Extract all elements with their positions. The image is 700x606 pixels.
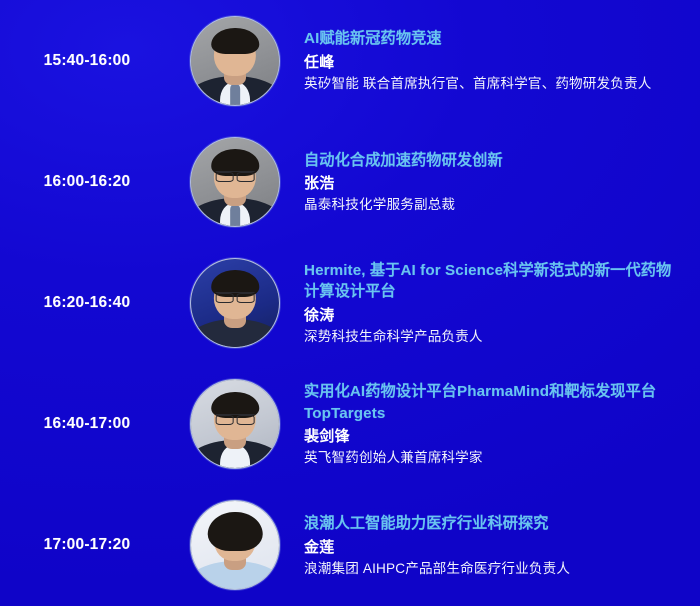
speaker-photo-xu-tao — [191, 259, 279, 347]
portrait-glasses — [216, 171, 255, 180]
talk-title: 自动化合成加速药物研发创新 — [304, 150, 684, 172]
talk-title: 实用化AI药物设计平台PharmaMind和靶标发现平台TopTargets — [304, 381, 684, 424]
speaker-affiliation: 英矽智能 联合首席执行官、首席科学官、药物研发负责人 — [304, 74, 684, 93]
speaker-photo-jin-lian — [191, 501, 279, 589]
time-slot: 15:40-16:00 — [0, 52, 182, 70]
speaker-name: 张浩 — [304, 173, 684, 194]
session-info: AI赋能新冠药物竞速 任峰 英矽智能 联合首席执行官、首席科学官、药物研发负责人 — [288, 28, 690, 93]
session-info: 自动化合成加速药物研发创新 张浩 晶泰科技化学服务副总裁 — [288, 150, 690, 215]
avatar-container — [182, 16, 288, 106]
portrait-tie — [230, 206, 240, 225]
session-info: Hermite, 基于AI for Science科学新范式的新一代药物计算设计… — [288, 260, 690, 346]
talk-title: Hermite, 基于AI for Science科学新范式的新一代药物计算设计… — [304, 260, 684, 303]
speaker-photo-pei-jianfeng — [191, 380, 279, 468]
speaker-name: 任峰 — [304, 52, 684, 73]
avatar — [190, 379, 280, 469]
time-label: 16:20-16:40 — [44, 294, 131, 312]
avatar-container — [182, 379, 288, 469]
speaker-name: 裴剑锋 — [304, 426, 684, 447]
speaker-affiliation: 浪潮集团 AIHPC产品部生命医疗行业负责人 — [304, 559, 684, 578]
talk-title: 浪潮人工智能助力医疗行业科研探究 — [304, 513, 684, 535]
speaker-name: 金莲 — [304, 537, 684, 558]
avatar — [190, 137, 280, 227]
portrait-hair — [211, 28, 259, 54]
agenda-row[interactable]: 15:40-16:00 AI赋能新冠药物竞速 任峰 英矽智能 — [0, 0, 700, 121]
session-info: 实用化AI药物设计平台PharmaMind和靶标发现平台TopTargets 裴… — [288, 381, 690, 467]
avatar-container — [182, 137, 288, 227]
speaker-name: 徐涛 — [304, 305, 684, 326]
speaker-photo-zhang-hao — [191, 138, 279, 226]
portrait-glasses — [216, 292, 255, 301]
avatar — [190, 258, 280, 348]
avatar-container — [182, 258, 288, 348]
time-label: 17:00-17:20 — [44, 536, 131, 554]
avatar — [190, 16, 280, 106]
agenda-row[interactable]: 16:20-16:40 Hermite, 基于AI for Science科学新… — [0, 242, 700, 363]
agenda-row[interactable]: 17:00-17:20 浪潮人工智能助力医疗行业科研探究 金莲 浪潮集团 AIH… — [0, 485, 700, 606]
speaker-affiliation: 英飞智药创始人兼首席科学家 — [304, 448, 684, 467]
time-slot: 16:00-16:20 — [0, 173, 182, 191]
talk-title: AI赋能新冠药物竞速 — [304, 28, 684, 50]
time-label: 15:40-16:00 — [44, 52, 131, 70]
time-label: 16:40-17:00 — [44, 415, 131, 433]
agenda-row[interactable]: 16:00-16:20 自动化合成加速药物研发创新 — [0, 121, 700, 242]
time-slot: 16:20-16:40 — [0, 294, 182, 312]
time-slot: 16:40-17:00 — [0, 415, 182, 433]
agenda-list: 15:40-16:00 AI赋能新冠药物竞速 任峰 英矽智能 — [0, 0, 700, 606]
agenda-row[interactable]: 16:40-17:00 实用化AI药物设计平台PharmaMind和靶标发现平台… — [0, 364, 700, 485]
avatar-container — [182, 500, 288, 590]
agenda-board: 15:40-16:00 AI赋能新冠药物竞速 任峰 英矽智能 — [0, 0, 700, 606]
speaker-affiliation: 晶泰科技化学服务副总裁 — [304, 195, 684, 214]
session-info: 浪潮人工智能助力医疗行业科研探究 金莲 浪潮集团 AIHPC产品部生命医疗行业负… — [288, 513, 690, 578]
speaker-photo-ren-feng — [191, 17, 279, 105]
portrait-tie — [230, 85, 240, 104]
speaker-affiliation: 深势科技生命科学产品负责人 — [304, 327, 684, 346]
time-label: 16:00-16:20 — [44, 173, 131, 191]
portrait-glasses — [216, 414, 255, 423]
avatar — [190, 500, 280, 590]
time-slot: 17:00-17:20 — [0, 536, 182, 554]
portrait-hair — [208, 512, 263, 551]
